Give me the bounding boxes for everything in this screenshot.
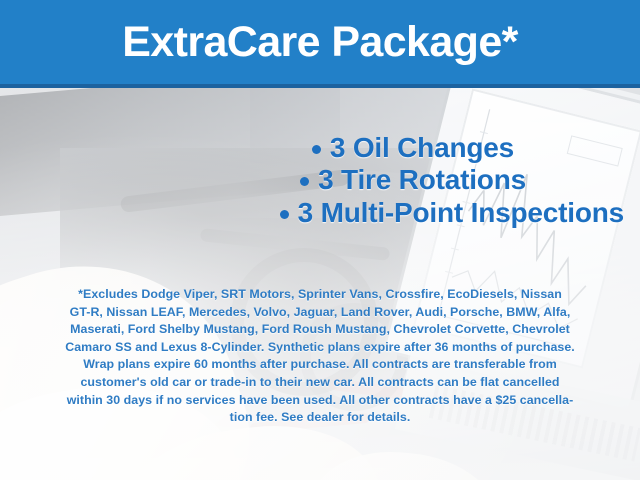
bullet-dot-icon	[300, 177, 309, 186]
benefits-list: 3 Oil Changes 3 Tire Rotations 3 Multi-P…	[0, 132, 640, 229]
header-bottom-rule	[0, 84, 640, 88]
disclaimer-line: Wrap plans expire 60 months after purcha…	[28, 356, 612, 374]
disclaimer-line: Maserati, Ford Shelby Mustang, Ford Rous…	[28, 321, 612, 339]
list-item: 3 Oil Changes	[312, 132, 514, 164]
benefit-label: 3 Multi-Point Inspections	[298, 197, 624, 229]
disclaimer-line: tion fee. See dealer for details.	[28, 409, 612, 427]
header-band: ExtraCare Package*	[0, 0, 640, 88]
disclaimer-line: Camaro SS and Lexus 8-Cylinder. Syntheti…	[28, 339, 612, 357]
bullet-dot-icon	[312, 145, 321, 154]
bullet-dot-icon	[280, 210, 289, 219]
list-item: 3 Tire Rotations	[300, 164, 526, 196]
disclaimer-line: *Excludes Dodge Viper, SRT Motors, Sprin…	[28, 286, 612, 304]
disclaimer-text: *Excludes Dodge Viper, SRT Motors, Sprin…	[28, 286, 612, 427]
extracare-package-poster: ExtraCare Package* 3 Oil Changes 3 Tire …	[0, 0, 640, 480]
page-title: ExtraCare Package*	[0, 0, 640, 84]
disclaimer-line: customer's old car or trade-in to their …	[28, 374, 612, 392]
disclaimer-line: within 30 days if no services have been …	[28, 392, 612, 410]
benefit-label: 3 Oil Changes	[330, 132, 514, 164]
list-item: 3 Multi-Point Inspections	[280, 197, 624, 229]
disclaimer-line: GT-R, Nissan LEAF, Mercedes, Volvo, Jagu…	[28, 304, 612, 322]
benefit-label: 3 Tire Rotations	[318, 164, 526, 196]
